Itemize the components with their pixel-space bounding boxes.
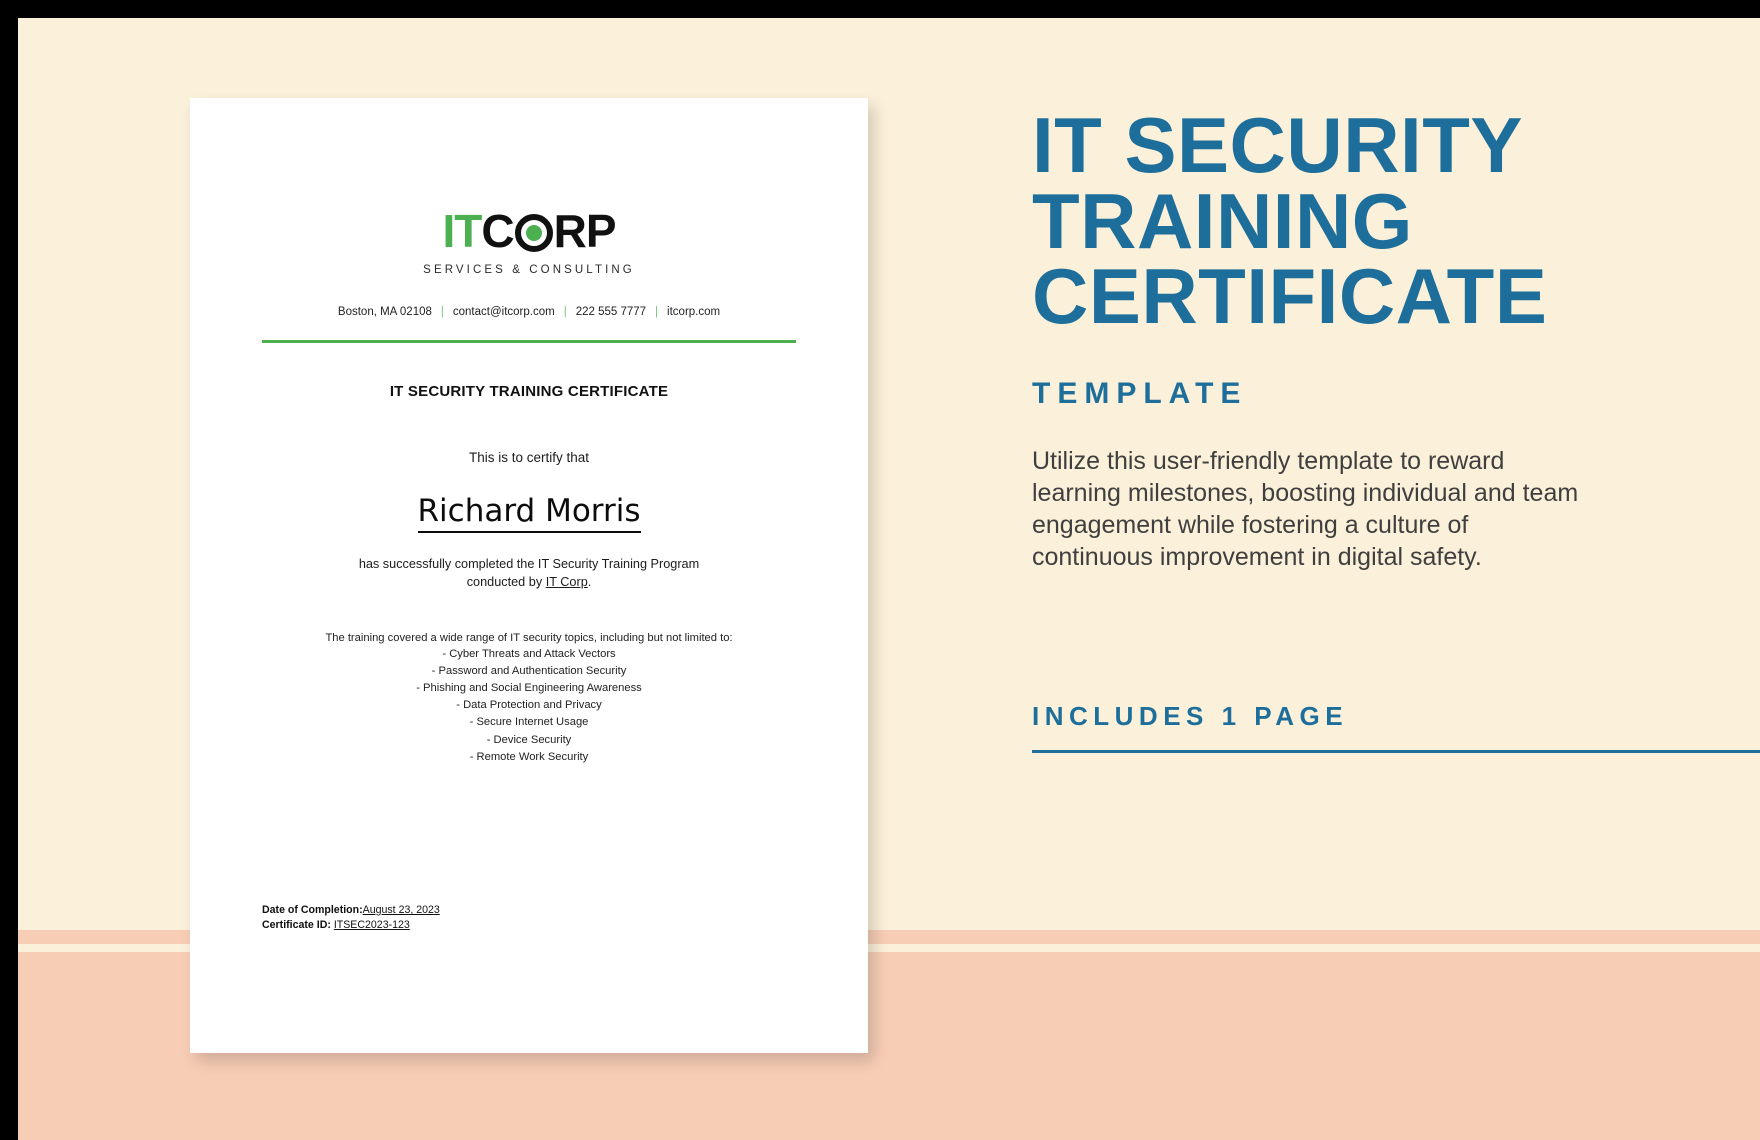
logo-wordmark: ITCRP [262,208,796,254]
certificate-id-value: ITSEC2023-123 [334,919,410,931]
completion-statement: has successfully completed the IT Securi… [262,555,796,592]
topics-intro: The training covered a wide range of IT … [262,632,796,644]
includes-divider [1032,750,1760,753]
list-item: - Secure Internet Usage [262,714,796,731]
includes-page-count: INCLUDES 1 PAGE [1032,701,1672,732]
completion-date-row: Date of Completion:August 23, 2023 [262,903,440,918]
contact-website: itcorp.com [667,306,720,318]
list-item: - Data Protection and Privacy [262,697,796,714]
completion-line-1: has successfully completed the IT Securi… [262,555,796,573]
topics-list: - Cyber Threats and Attack Vectors - Pas… [262,646,796,766]
contact-phone: 222 555 7777 [576,306,646,318]
logo-text-c: C [481,205,513,257]
promo-panel: IT SECURITY TRAINING CERTIFICATE TEMPLAT… [1032,108,1672,753]
list-item: - Cyber Threats and Attack Vectors [262,646,796,663]
promo-description: Utilize this user-friendly template to r… [1032,445,1592,573]
recipient-name-field[interactable]: Richard Morris [262,493,796,529]
list-item: - Remote Work Security [262,749,796,766]
completion-line-2-pre: conducted by [467,575,546,589]
contact-address: Boston, MA 02108 [338,306,432,318]
recipient-name: Richard Morris [418,493,641,533]
contact-bar: Boston, MA 02108|contact@itcorp.com|222 … [262,306,796,318]
page-title: IT SECURITY TRAINING CERTIFICATE [1032,108,1672,335]
completion-line-2: conducted by IT Corp. [262,573,796,591]
template-kicker: TEMPLATE [1032,377,1672,411]
logo-o-target-icon [515,214,553,252]
company-logo: ITCRP SERVICES & CONSULTING [262,98,796,276]
certificate-heading: IT SECURITY TRAINING CERTIFICATE [262,383,796,400]
logo-text-it: IT [442,205,481,257]
header-divider [262,340,796,343]
completion-date-label: Date of Completion: [262,904,363,916]
list-item: - Password and Authentication Security [262,663,796,680]
list-item: - Phishing and Social Engineering Awaren… [262,680,796,697]
logo-o-dot [526,225,542,241]
certificate-id-label: Certificate ID: [262,919,331,931]
headline-line-3: CERTIFICATE [1032,252,1547,340]
certificate-document[interactable]: ITCRP SERVICES & CONSULTING Boston, MA 0… [190,98,868,1053]
contact-separator-3: | [655,306,658,318]
logo-tagline: SERVICES & CONSULTING [262,264,796,276]
contact-separator-2: | [564,306,567,318]
certify-statement: This is to certify that [262,450,796,465]
certificate-id-row: Certificate ID: ITSEC2023-123 [262,918,440,933]
completion-date-value: August 23, 2023 [363,904,440,916]
list-item: - Device Security [262,732,796,749]
conducting-organization: IT Corp [546,575,588,589]
completion-line-2-post: . [588,575,592,589]
logo-text-rp: RP [554,205,616,257]
contact-email: contact@itcorp.com [453,306,555,318]
contact-separator-1: | [441,306,444,318]
certificate-metadata: Date of Completion:August 23, 2023 Certi… [262,903,440,934]
poster-canvas: ITCRP SERVICES & CONSULTING Boston, MA 0… [0,0,1760,1140]
